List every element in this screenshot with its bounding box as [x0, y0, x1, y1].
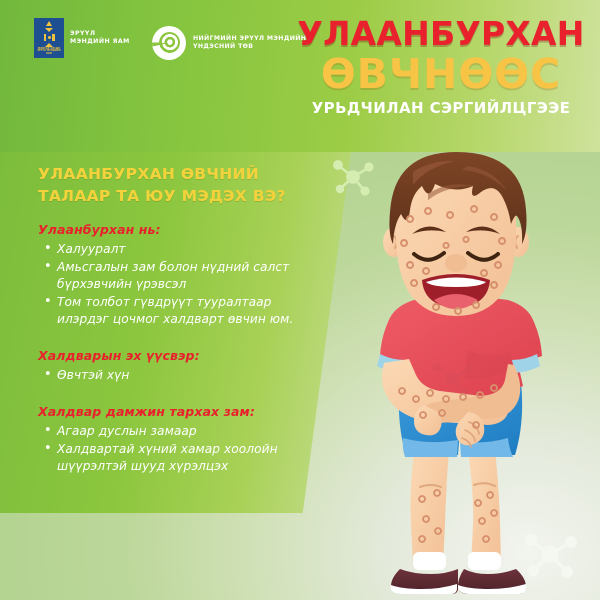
title-line-1: УЛААНБУРХАН [296, 16, 586, 52]
list-item: Агаар дуслын замаар [42, 423, 312, 440]
bullet-list: Халууралт Амьсгалын зам болон нүдний сал… [42, 241, 312, 328]
logo-group: МОНГОЛ УЛСЫН ЭРҮҮЛ МЭНДИЙН ЯАМ ЭРҮҮЛ МЭН… [0, 0, 340, 152]
ministry-logo-label: ЭРҮҮЛ МЭНДИЙН ЯАМ [70, 30, 130, 46]
ministry-emblem-icon: МОНГОЛ УЛСЫН ЭРҮҮЛ МЭНДИЙН ЯАМ [34, 18, 64, 58]
section-title: Халдварын эх үүсвэр: [38, 347, 312, 365]
section-transmission-routes: Халдвар дамжин тархах зам: Агаар дуслын … [38, 403, 312, 475]
bullet-list: Өвчтэй хүн [42, 367, 312, 384]
bullet-list: Агаар дуслын замаар Халдвартай хүний хам… [42, 423, 312, 475]
ncph-spiral-icon [152, 26, 186, 60]
boy-illustration [318, 150, 593, 600]
title-line-2: ӨВЧНӨӨС [296, 53, 586, 96]
panel-heading: УЛААНБУРХАН ӨВЧНИЙ ТАЛААР ТА ЮУ МЭДЭХ ВЭ… [38, 163, 312, 207]
logo-national-center-public-health: НИЙГМИЙН ЭРҮҮЛ МЭНДИЙН ҮНДЭСНИЙ ТӨВ [152, 26, 306, 60]
info-panel-content: УЛААНБУРХАН ӨВЧНИЙ ТАЛААР ТА ЮУ МЭДЭХ ВЭ… [0, 145, 330, 484]
list-item: Амьсгалын зам болон нүдний салст бүрхэвч… [42, 259, 312, 293]
list-item: Том толбот гүвдрүүт тууралтаар илэрдэг ц… [42, 294, 312, 328]
section-symptoms: Улаанбурхан нь: Халууралт Амьсгалын зам … [38, 221, 312, 328]
poster-canvas: МОНГОЛ УЛСЫН ЭРҮҮЛ МЭНДИЙН ЯАМ ЭРҮҮЛ МЭН… [0, 0, 600, 600]
poster-title: УЛААНБУРХАН ӨВЧНӨӨС УРЬДЧИЛАН СЭРГИЙЛЦГЭ… [296, 16, 586, 118]
title-line-3: УРЬДЧИЛАН СЭРГИЙЛЦГЭЭЕ [296, 99, 586, 118]
section-title: Халдвар дамжин тархах зам: [38, 403, 312, 421]
section-source-of-infection: Халдварын эх үүсвэр: Өвчтэй хүн [38, 347, 312, 384]
ncph-logo-label: НИЙГМИЙН ЭРҮҮЛ МЭНДИЙН ҮНДЭСНИЙ ТӨВ [193, 35, 306, 52]
list-item: Өвчтэй хүн [42, 367, 312, 384]
logo-ministry-of-health: МОНГОЛ УЛСЫН ЭРҮҮЛ МЭНДИЙН ЯАМ ЭРҮҮЛ МЭН… [34, 18, 130, 58]
list-item: Халдвартай хүний хамар хоолойн шүүрэлтэй… [42, 441, 312, 475]
soyombo-icon [43, 21, 56, 47]
list-item: Халууралт [42, 241, 312, 258]
ministry-emblem-ribbon-text: МОНГОЛ УЛСЫН ЭРҮҮЛ МЭНДИЙН ЯАМ [35, 48, 63, 56]
section-title: Улаанбурхан нь: [38, 221, 312, 239]
